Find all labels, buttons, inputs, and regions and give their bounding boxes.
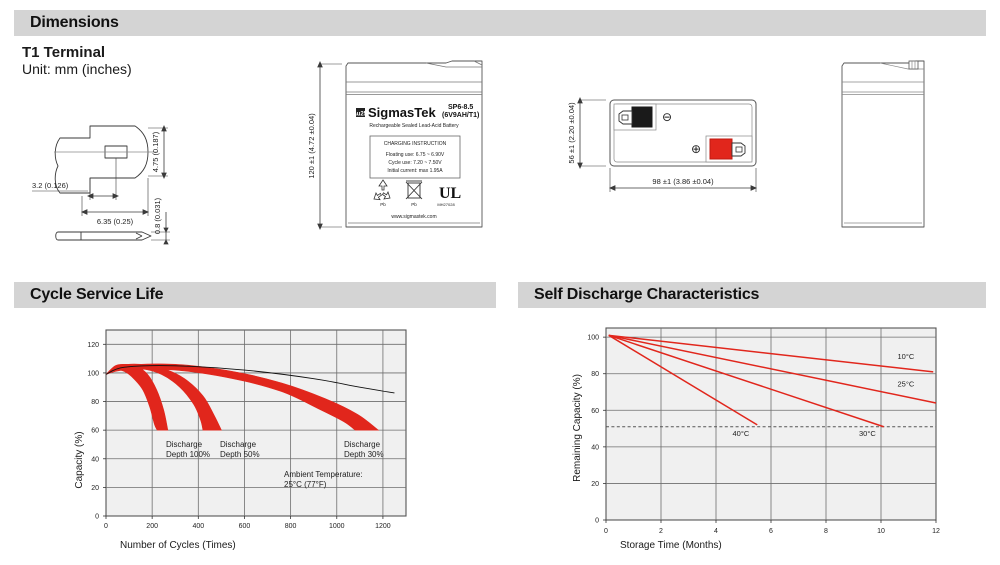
self-discharge-ytick-100: 100 bbox=[587, 335, 599, 342]
self-discharge-ytick-80: 80 bbox=[591, 371, 599, 378]
cycle-annotation-2-line2: Depth 30% bbox=[344, 450, 384, 459]
svg-text:UL: UL bbox=[439, 185, 461, 202]
cycle-ytick-80: 80 bbox=[91, 399, 99, 406]
cycle-xlabel: Number of Cycles (Times) bbox=[120, 540, 236, 551]
cycle-annotation-0-line1: Discharge bbox=[166, 440, 203, 449]
dim-terminal-height: 4.75 (0.187) bbox=[151, 131, 160, 172]
dim-terminal-width-large: 6.35 (0.25) bbox=[97, 217, 134, 226]
ul-mark-icon: UL bbox=[439, 185, 461, 202]
battery-top-view-drawing: 56 ±1 (2.20 ±0.04) ⊖ ⊕ 98 ±1 (3.86 ±0.04… bbox=[530, 88, 765, 208]
battery-front-view-drawing: 120 ±1 (4.72 ±0.04) \u25A0 SigmasTek SP6… bbox=[296, 52, 511, 247]
self-discharge-ytick-40: 40 bbox=[591, 444, 599, 451]
self-discharge-xtick-8: 8 bbox=[824, 528, 828, 535]
self-discharge-xtick-12: 12 bbox=[932, 528, 940, 535]
battery-model: SP6-8.5 bbox=[448, 104, 473, 111]
cycle-ytick-0: 0 bbox=[95, 514, 99, 521]
positive-terminal-icon bbox=[706, 136, 752, 162]
battery-type-line: Rechargeable Sealed Lead-Acid Battery bbox=[369, 123, 459, 129]
charging-line-2: Initial current: max 1.95A bbox=[387, 168, 443, 174]
dim-battery-width: 98 ±1 (3.86 ±0.04) bbox=[652, 177, 714, 186]
battery-model-sub: (6V9AH/T1) bbox=[442, 112, 479, 119]
cycle-annotation-1-line2: Depth 50% bbox=[220, 450, 260, 459]
self-discharge-label-30°C: 30°C bbox=[859, 429, 876, 438]
self-discharge-chart: 40°C30°C25°C10°C 024681012 020406080100 … bbox=[520, 318, 990, 555]
self-discharge-ytick-60: 60 bbox=[591, 408, 599, 415]
cycle-annotation-ambient-line1: Ambient Temperature: bbox=[284, 470, 363, 479]
recycle-icon-label: Pb bbox=[380, 202, 386, 207]
self-discharge-ylabel: Remaining Capacity (%) bbox=[572, 374, 583, 482]
section-header-self-discharge: Self Discharge Characteristics bbox=[518, 282, 986, 308]
t1-terminal-drawing: 4.75 (0.187) 3.2 (0.126) 6.35 (0.25) 0.8… bbox=[18, 88, 198, 248]
self-discharge-label-25°C: 25°C bbox=[898, 380, 915, 389]
self-discharge-ytick-20: 20 bbox=[591, 481, 599, 488]
dim-battery-depth: 56 ±1 (2.20 ±0.04) bbox=[567, 102, 576, 164]
battery-label-brand-row: \u25A0 SigmasTek SP6-8.5 (6V9AH/T1) bbox=[355, 104, 479, 120]
section-header-cycle-service-life: Cycle Service Life bbox=[14, 282, 496, 308]
cycle-xtick-400: 400 bbox=[192, 523, 204, 530]
charging-line-1: Cycle use: 7.20 ~ 7.50V bbox=[388, 160, 442, 166]
negative-symbol: ⊖ bbox=[662, 110, 672, 124]
dim-terminal-width-small: 3.2 (0.126) bbox=[32, 181, 69, 190]
self-discharge-xlabel: Storage Time (Months) bbox=[620, 540, 722, 551]
cycle-xtick-600: 600 bbox=[239, 523, 251, 530]
cycle-annotation-2-line1: Discharge bbox=[344, 440, 381, 449]
cycle-ytick-40: 40 bbox=[91, 456, 99, 463]
self-discharge-label-10°C: 10°C bbox=[898, 352, 915, 361]
battery-side-view-drawing bbox=[820, 52, 950, 247]
cycle-ytick-60: 60 bbox=[91, 428, 99, 435]
cycle-xtick-200: 200 bbox=[146, 523, 158, 530]
battery-website: www.sigmastek.com bbox=[391, 214, 436, 220]
cycle-service-life-chart: 020040060080010001200 020406080100120 Di… bbox=[20, 320, 490, 555]
battery-brand: SigmasTek bbox=[368, 105, 436, 120]
positive-symbol: ⊕ bbox=[691, 142, 701, 156]
self-discharge-xtick-2: 2 bbox=[659, 528, 663, 535]
section-title-cycle-service-life: Cycle Service Life bbox=[30, 286, 163, 304]
cycle-xtick-800: 800 bbox=[285, 523, 297, 530]
self-discharge-ytick-0: 0 bbox=[595, 518, 599, 525]
ul-file-number: MH27028 bbox=[437, 202, 455, 207]
cycle-xtick-1200: 1200 bbox=[375, 523, 391, 530]
self-discharge-label-40°C: 40°C bbox=[733, 429, 750, 438]
unit-note: Unit: mm (inches) bbox=[22, 61, 132, 79]
cycle-ytick-20: 20 bbox=[91, 485, 99, 492]
cycle-annotation-1-line1: Discharge bbox=[220, 440, 257, 449]
crossed-bin-icon-label: Pb bbox=[411, 202, 417, 207]
dim-terminal-thickness: 0.8 (0.031) bbox=[153, 197, 162, 234]
cycle-annotation-ambient-line2: 25°C (77°F) bbox=[284, 480, 327, 489]
section-header-dimensions: Dimensions bbox=[14, 10, 986, 36]
section-title-dimensions: Dimensions bbox=[30, 14, 119, 32]
charging-instruction-title: CHARGING INSTRUCTION bbox=[384, 141, 447, 147]
t1-terminal-heading: T1 Terminal bbox=[22, 44, 105, 63]
self-discharge-xtick-10: 10 bbox=[877, 528, 885, 535]
section-title-self-discharge: Self Discharge Characteristics bbox=[534, 286, 759, 304]
dim-battery-height: 120 ±1 (4.72 ±0.04) bbox=[307, 113, 316, 179]
negative-terminal-icon bbox=[614, 104, 656, 130]
self-discharge-xtick-6: 6 bbox=[769, 528, 773, 535]
cycle-annotation-0-line2: Depth 100% bbox=[166, 450, 210, 459]
cycle-ytick-120: 120 bbox=[87, 342, 99, 349]
charging-line-0: Floating use: 6.75 ~ 6.90V bbox=[386, 152, 445, 158]
self-discharge-xtick-4: 4 bbox=[714, 528, 718, 535]
cycle-xtick-1000: 1000 bbox=[329, 523, 345, 530]
cycle-ytick-100: 100 bbox=[87, 370, 99, 377]
cycle-ylabel: Capacity (%) bbox=[74, 431, 85, 488]
cycle-xtick-0: 0 bbox=[104, 523, 108, 530]
self-discharge-xtick-0: 0 bbox=[604, 528, 608, 535]
